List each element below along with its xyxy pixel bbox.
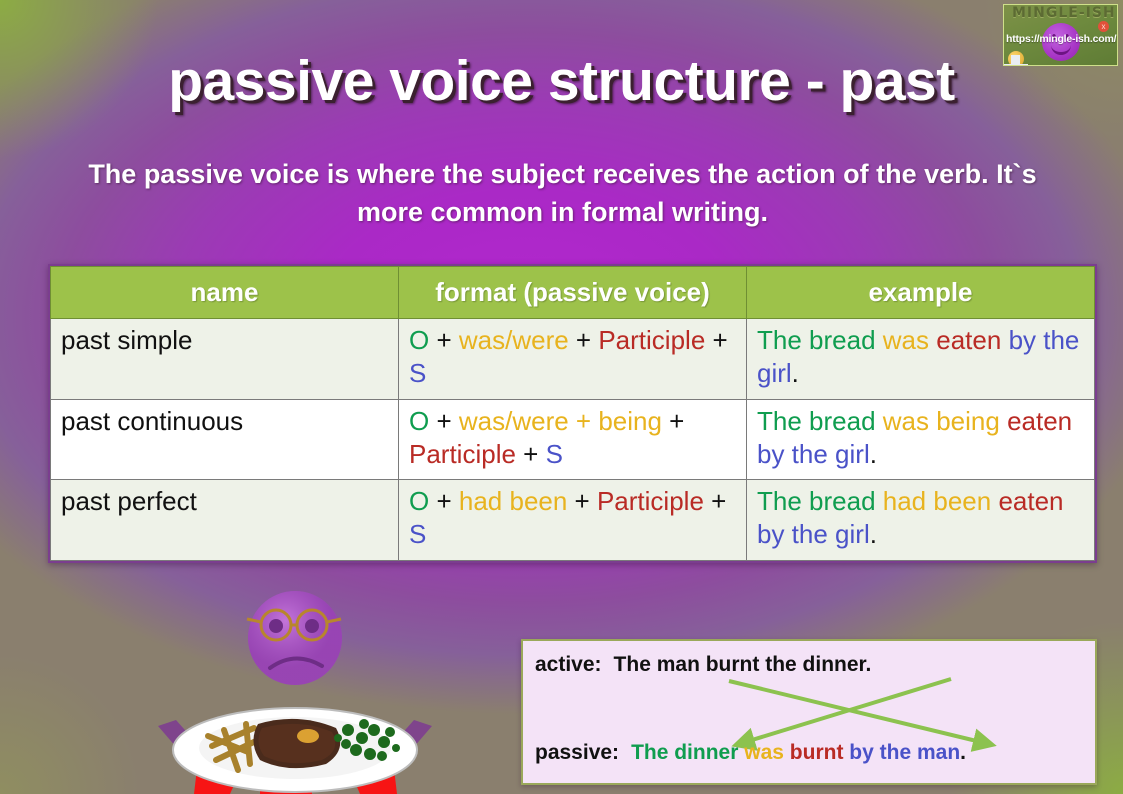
illustration-svg — [150, 588, 440, 794]
example-part-7: . — [870, 439, 877, 469]
active-passive-example-box: active:The man burnt the dinner. passive… — [521, 639, 1097, 785]
watermark-url: https://mingle-ish.com/ — [1006, 33, 1116, 45]
table-row: past simpleO + was/were + Participle + S… — [51, 319, 1095, 400]
passive-part-6: by the man — [849, 741, 960, 764]
cell-example: The bread was being eaten by the girl. — [747, 399, 1095, 480]
example-part-4: eaten — [998, 486, 1063, 516]
format-part-2: had been — [459, 486, 567, 516]
example-part-4: eaten — [1007, 406, 1072, 436]
passive-sentence-line: passive:The dinner was burnt by the man. — [535, 741, 966, 765]
format-part-4: Participle — [598, 325, 705, 355]
format-part-5: + — [704, 486, 726, 516]
example-part-2: was — [883, 325, 929, 355]
example-part-5 — [1001, 325, 1008, 355]
example-part-7: . — [792, 358, 799, 388]
close-badge-icon: x — [1098, 21, 1109, 32]
active-sentence-line: active:The man burnt the dinner. — [535, 653, 871, 677]
table-row: past perfectO + had been + Participle + … — [51, 480, 1095, 561]
format-part-6: S — [546, 439, 563, 469]
grammar-table-container: name format (passive voice) example past… — [48, 264, 1097, 563]
cell-tense-name: past continuous — [51, 399, 399, 480]
format-part-0: O — [409, 325, 429, 355]
example-part-1 — [876, 406, 883, 436]
head-group — [247, 591, 342, 685]
burnt-dinner-illustration — [150, 588, 440, 794]
table-head: name format (passive voice) example — [51, 267, 1095, 319]
example-part-0: The bread — [757, 325, 876, 355]
format-part-4: Participle — [597, 486, 704, 516]
format-part-0: O — [409, 486, 429, 516]
passive-part-7: . — [960, 741, 966, 764]
format-part-5: + — [705, 325, 727, 355]
passive-part-0: The dinner — [631, 741, 738, 764]
table-row: past continuousO + was/were + being + Pa… — [51, 399, 1095, 480]
format-part-0: O — [409, 406, 429, 436]
column-header-format: format (passive voice) — [399, 267, 747, 319]
format-part-6: S — [409, 519, 426, 549]
example-part-1 — [876, 325, 883, 355]
example-part-0: The bread — [757, 406, 876, 436]
watermark-logo: MINGLE-ISH x https://mingle-ish.com/ — [1003, 4, 1118, 66]
plate-group — [173, 708, 417, 792]
passive-label: passive: — [535, 741, 619, 765]
example-part-0: The bread — [757, 486, 876, 516]
cell-tense-name: past perfect — [51, 480, 399, 561]
plus-icon — [1003, 55, 1028, 66]
example-part-2: was being — [883, 406, 1000, 436]
example-part-6: by the girl — [757, 519, 870, 549]
example-part-1 — [876, 486, 883, 516]
format-part-3: + — [662, 406, 684, 436]
format-part-5: + — [516, 439, 546, 469]
passive-sentence-text: The dinner was burnt by the man. — [631, 741, 966, 764]
format-part-1: + — [429, 325, 459, 355]
column-header-name: name — [51, 267, 399, 319]
slide-canvas: MINGLE-ISH x https://mingle-ish.com/ pas… — [0, 0, 1123, 794]
cell-format: O + was/were + Participle + S — [399, 319, 747, 400]
example-part-3 — [1000, 406, 1007, 436]
page-title: passive voice structure - past — [0, 48, 1123, 114]
format-part-2: was/were + being — [459, 406, 662, 436]
page-subtitle: The passive voice is where the subject r… — [55, 155, 1070, 232]
passive-part-4: burnt — [790, 741, 844, 764]
table-body: past simpleO + was/were + Participle + S… — [51, 319, 1095, 561]
column-header-example: example — [747, 267, 1095, 319]
arrow-subject-to-agent — [729, 681, 989, 744]
table-header-row: name format (passive voice) example — [51, 267, 1095, 319]
active-sentence-text: The man burnt the dinner. — [614, 653, 872, 676]
format-part-3: + — [569, 325, 599, 355]
format-part-6: S — [409, 358, 426, 388]
cell-example: The bread had been eaten by the girl. — [747, 480, 1095, 561]
arrow-object-to-subject — [739, 679, 951, 744]
grammar-table: name format (passive voice) example past… — [50, 266, 1095, 561]
example-part-4: eaten — [936, 325, 1001, 355]
format-part-1: + — [429, 406, 459, 436]
watermark-brand: MINGLE-ISH — [1012, 5, 1116, 21]
cell-tense-name: past simple — [51, 319, 399, 400]
cell-format: O + had been + Participle + S — [399, 480, 747, 561]
example-part-2: had been — [883, 486, 991, 516]
passive-part-2: was — [744, 741, 784, 764]
format-part-1: + — [429, 486, 459, 516]
format-part-4: Participle — [409, 439, 516, 469]
active-label: active: — [535, 653, 602, 677]
cell-example: The bread was eaten by the girl. — [747, 319, 1095, 400]
example-part-6: by the girl — [757, 439, 870, 469]
format-part-3: + — [567, 486, 597, 516]
example-part-7: . — [870, 519, 877, 549]
cell-format: O + was/were + being + Participle + S — [399, 399, 747, 480]
format-part-2: was/were — [459, 325, 569, 355]
